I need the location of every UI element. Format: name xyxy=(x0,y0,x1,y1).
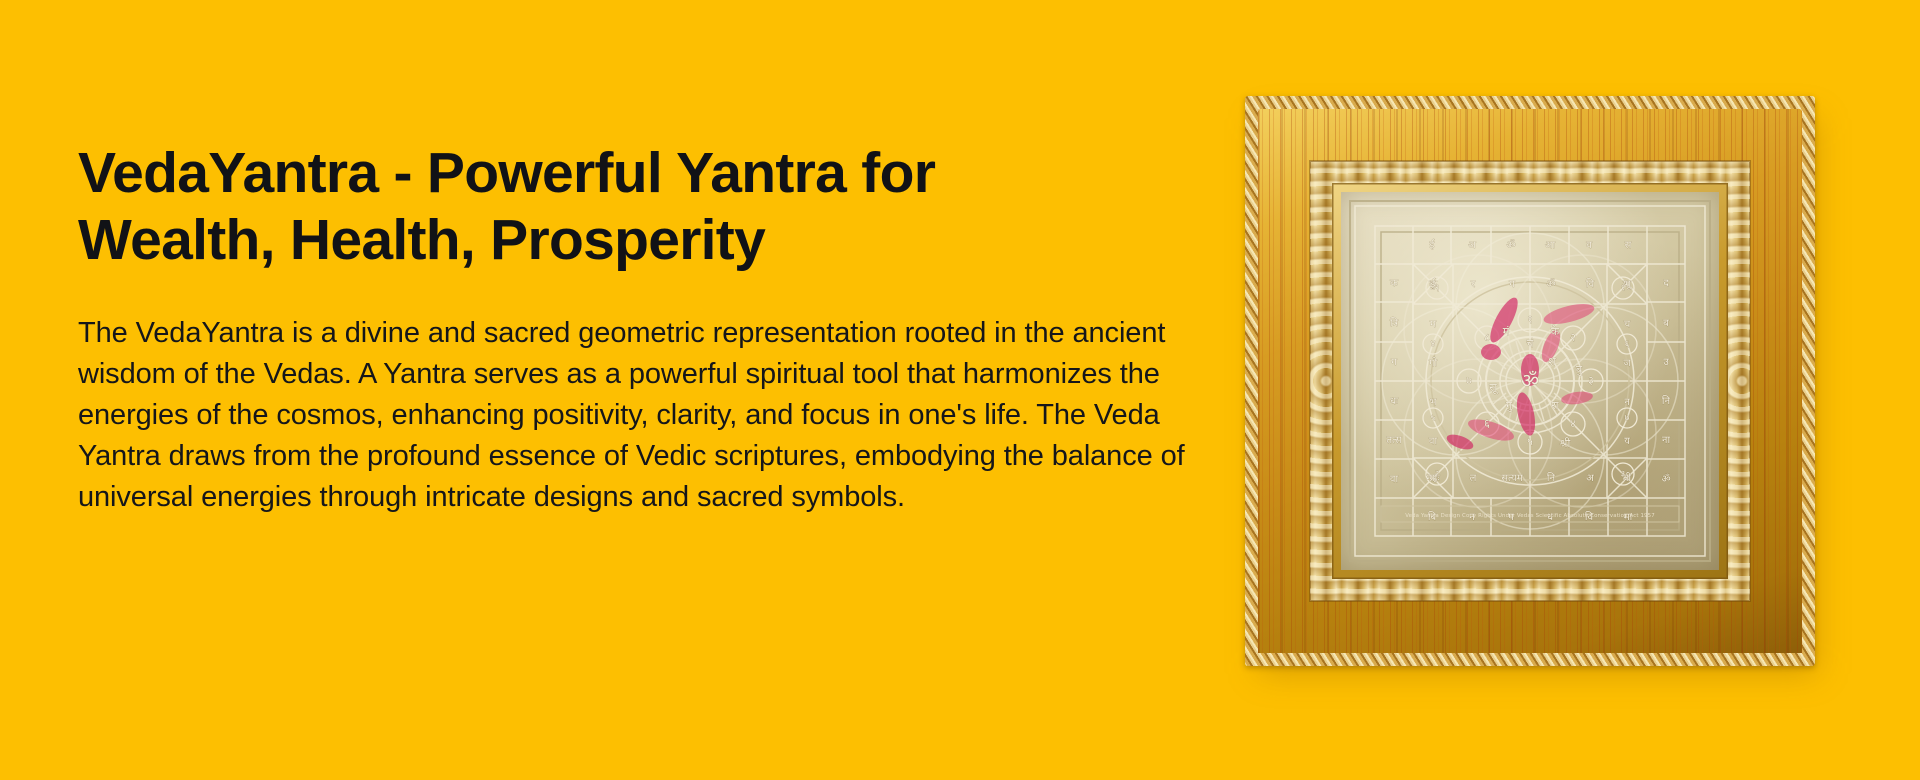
hero-copy-column: VedaYantra - Powerful Yantra for Wealth,… xyxy=(78,140,1208,518)
yantra-border-glyph-5: व xyxy=(1586,240,1592,251)
yantra-center-glyph: ॐ xyxy=(1521,369,1539,393)
yantra-border-glyph-39: गो xyxy=(1429,357,1438,369)
yantra-border-glyph-40: भ xyxy=(1429,397,1437,408)
yantra-border-glyph-2: अ xyxy=(1468,240,1476,251)
yantra-border-glyph-3: ॐ xyxy=(1506,239,1515,251)
plate-caption: Veda Yantra Design Copy Rights Under Ved… xyxy=(1405,513,1655,519)
yantra-numeral-8: ८ xyxy=(1484,331,1490,344)
yantra-corner-numeral-5: ५ xyxy=(1431,414,1436,424)
page-title: VedaYantra - Powerful Yantra for Wealth,… xyxy=(78,140,1078,275)
yantra-border-glyph-46: न xyxy=(1624,397,1630,408)
yantra-border-glyph-45: ज xyxy=(1623,358,1631,369)
yantra-border-glyph-44: च xyxy=(1624,319,1631,330)
yantra-border-glyph-19: द xyxy=(1663,278,1669,289)
yantra-border-glyph-24: ॐ xyxy=(1661,473,1670,485)
yantra-planet-label-8: श्री xyxy=(1560,437,1571,450)
yantra-numeral-2: २ xyxy=(1570,331,1576,344)
yantra-planet-label-1: के xyxy=(1551,325,1560,338)
yantra-planet-label-6: बु xyxy=(1576,363,1583,376)
yantra-border-glyph-18: वा xyxy=(1390,474,1399,485)
yantra-numeral-1: १ xyxy=(1527,313,1533,326)
yantra-corner-numeral-4: ४ xyxy=(1431,340,1436,350)
yantra-artwork: ॐ१२३४५६७८९१२३४५६७केशराचंमंबुगुश्रीसूईअॐआ… xyxy=(1245,96,1815,666)
yantra-border-glyph-20: ब xyxy=(1663,318,1669,329)
yantra-planet-label-3: रा xyxy=(1551,399,1558,412)
yantra-border-glyph-4: आ xyxy=(1545,240,1556,251)
yantra-brass-plate: ॐ१२३४५६७८९१२३४५६७केशराचंमंबुगुश्रीसूईअॐआ… xyxy=(1341,192,1719,570)
yantra-numeral-5: ५ xyxy=(1527,435,1533,448)
yantra-corner-numeral-7: ७ xyxy=(1625,414,1630,424)
yantra-border-glyph-38: म xyxy=(1430,319,1437,330)
yantra-planet-label-7: गु xyxy=(1506,399,1513,412)
yantra-border-glyph-6: स xyxy=(1625,240,1632,251)
yantra-planet-label-2: श xyxy=(1548,355,1556,368)
yantra-border-glyph-28: ॐ xyxy=(1546,278,1555,290)
yantra-border-glyph-23: ना xyxy=(1662,435,1671,446)
yantra-border-glyph-16: धः xyxy=(1390,396,1399,407)
yantra-border-glyph-47: य xyxy=(1624,436,1630,447)
yantra-border-glyph-48: ती xyxy=(1623,472,1632,484)
yantra-border-glyph-26: र xyxy=(1471,279,1476,290)
yantra-numeral-4: ४ xyxy=(1570,417,1576,430)
yantra-border-glyph-35: अ xyxy=(1586,473,1594,484)
yantra-border-glyph-42: प्रा xyxy=(1429,473,1438,484)
yantra-numeral-3: ३ xyxy=(1588,374,1594,387)
yantra-numeral-6: ६ xyxy=(1484,417,1490,430)
yantra-border-glyph-33: सत्यम xyxy=(1501,473,1523,484)
yantra-planet-label-5: मं xyxy=(1503,325,1510,338)
yantra-border-glyph-13: क xyxy=(1390,278,1398,289)
yantra-border-glyph-14: त्रि xyxy=(1390,317,1399,329)
yantra-corner-numeral-6: ६ xyxy=(1625,340,1630,350)
yantra-numeral-7: ७ xyxy=(1466,374,1472,387)
yantra-border-glyph-34: नि xyxy=(1547,472,1556,484)
hero-description: The VedaYantra is a divine and sacred ge… xyxy=(78,313,1203,519)
yantra-border-glyph-29: वि xyxy=(1586,278,1595,290)
yantra-border-glyph-17: तत्स xyxy=(1386,435,1402,446)
yantra-border-glyph-32: ल xyxy=(1470,473,1477,484)
yantra-border-glyph-15: ग xyxy=(1391,357,1397,368)
yantra-border-glyph-27: ग xyxy=(1509,279,1515,290)
yantra-border-glyph-22: नि xyxy=(1662,395,1671,407)
yantra-border-glyph-21: उ xyxy=(1663,357,1669,368)
hero-banner: VedaYantra - Powerful Yantra for Wealth,… xyxy=(0,0,1920,780)
yantra-border-glyph-1: ई xyxy=(1430,239,1436,251)
yantra-border-glyph-41: वा xyxy=(1429,436,1438,447)
yantra-planet-label-4: चं xyxy=(1527,337,1535,350)
yantra-diagram: ॐ१२३४५६७८९१२३४५६७केशराचंमंबुगुश्रीसूईअॐआ… xyxy=(1341,192,1719,570)
